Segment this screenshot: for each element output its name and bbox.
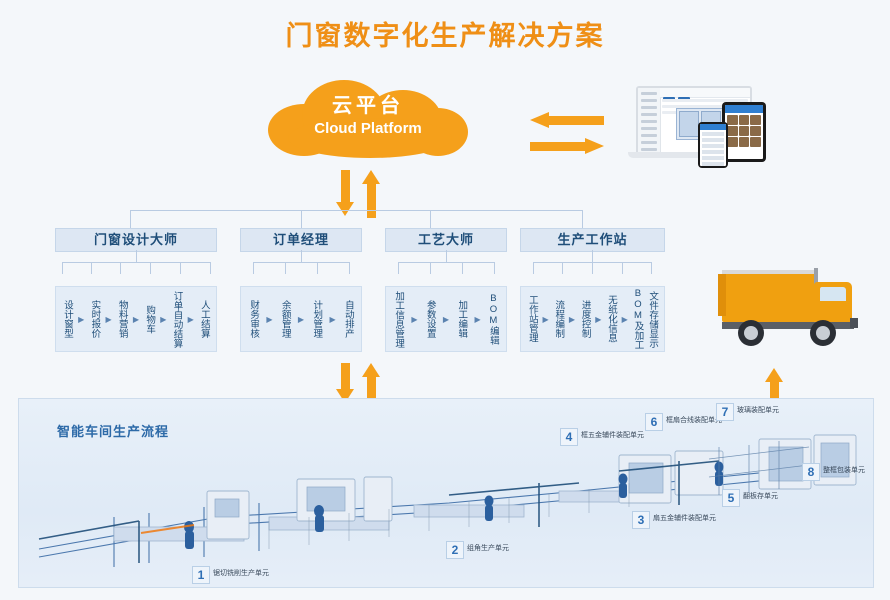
page-title: 门窗数字化生产解决方案	[0, 14, 890, 53]
module-item[interactable]: 计划管理	[311, 300, 322, 338]
flow-arrow-icon: ▶	[411, 315, 417, 324]
unit-label: 锯切铣削生产单元	[213, 569, 269, 579]
module-item[interactable]: 参数设置	[425, 300, 436, 338]
module-item[interactable]: 余额管理	[280, 300, 291, 338]
module-item[interactable]: 无纸化信息	[606, 295, 617, 343]
tree-branch	[430, 210, 431, 228]
laptop-toolbar	[660, 88, 750, 98]
module-title: 门窗设计大师	[55, 228, 217, 252]
flow-arrow-icon: ▶	[595, 315, 601, 324]
cloud-device-sync-arrows	[530, 112, 622, 156]
module-item[interactable]: 设计窗型	[62, 300, 73, 338]
unit-badge[interactable]: 2	[446, 541, 464, 559]
phone-mockup	[698, 122, 728, 168]
module-card-0[interactable]: 门窗设计大师 设计窗型 ▶ 实时报价 ▶ 物料营销 ▶ 购物车 ▶ 订单自动结算…	[55, 228, 217, 350]
module-items: 工作站管理 ▶ 流程编制 ▶ 进度控制 ▶ 无纸化信息 ▶ BOM及加工 文件存…	[520, 286, 665, 352]
flow-arrow-icon: ▶	[330, 315, 336, 324]
cloud-label-group: 云平台 Cloud Platform	[268, 94, 468, 139]
unit-label: 玻璃装配单元	[737, 406, 779, 416]
tree-branch	[130, 210, 131, 228]
unit-badge[interactable]: 4	[560, 428, 578, 446]
unit-badge[interactable]: 7	[716, 403, 734, 421]
cloud-label-en: Cloud Platform	[268, 119, 468, 139]
module-item[interactable]: 流程编制	[553, 300, 564, 338]
flow-arrow-icon: ▶	[106, 315, 112, 324]
module-title: 订单经理	[240, 228, 362, 252]
module-item[interactable]: 财务审核	[248, 300, 259, 338]
flow-arrow-icon: ▶	[78, 315, 84, 324]
module-item[interactable]: 自动排产	[343, 300, 354, 338]
unit-label: 扇五金辅件装配单元	[653, 514, 716, 524]
unit-badge[interactable]: 6	[645, 413, 663, 431]
cloud-platform-node: 云平台 Cloud Platform	[268, 78, 468, 160]
module-item[interactable]: 订单自动结算	[172, 291, 183, 348]
cloud-label-cn: 云平台	[268, 94, 468, 119]
flow-arrow-icon: ▶	[133, 315, 139, 324]
module-item[interactable]: 物料营销	[117, 300, 128, 338]
module-item[interactable]: 加工信息管理	[393, 291, 404, 348]
tree-trunk-horizontal	[130, 210, 582, 211]
unit-badge[interactable]: 1	[192, 566, 210, 584]
delivery-truck-illustration	[714, 262, 874, 362]
flow-arrow-icon: ▶	[266, 315, 272, 324]
module-items: 加工信息管理 ▶ 参数设置 ▶ 加工编辑 ▶ BOM编辑	[385, 286, 507, 352]
flow-arrow-icon: ▶	[298, 315, 304, 324]
tablet-mockup	[722, 102, 766, 162]
module-item[interactable]: 加工编辑	[456, 300, 467, 338]
module-item[interactable]: BOM编辑	[488, 293, 499, 345]
module-card-2[interactable]: 工艺大师 加工信息管理 ▶ 参数设置 ▶ 加工编辑 ▶ BOM编辑	[385, 228, 507, 350]
arrow-left-icon	[530, 112, 605, 129]
module-card-1[interactable]: 订单经理 财务审核 ▶ 余额管理 ▶ 计划管理 ▶ 自动排产	[240, 228, 362, 350]
module-item[interactable]: 进度控制	[580, 300, 591, 338]
unit-label: 组角生产单元	[467, 544, 509, 554]
module-item[interactable]: BOM及加工	[632, 288, 643, 350]
phone-appbar	[700, 124, 726, 130]
tree-branch	[582, 210, 583, 228]
tree-branch	[301, 210, 302, 228]
flow-arrow-icon: ▶	[475, 315, 481, 324]
solution-diagram: 门窗数字化生产解决方案 云平台 Cloud Platform	[0, 0, 890, 600]
module-item[interactable]: 购物车	[144, 305, 155, 334]
flow-arrow-icon: ▶	[160, 315, 166, 324]
module-items: 财务审核 ▶ 余额管理 ▶ 计划管理 ▶ 自动排产	[240, 286, 362, 352]
phone-list	[700, 132, 726, 166]
flow-arrow-icon: ▶	[569, 315, 575, 324]
arrow-right-icon	[530, 138, 605, 155]
module-item[interactable]: 实时报价	[89, 300, 100, 338]
unit-badge[interactable]: 3	[632, 511, 650, 529]
flow-arrow-icon: ▶	[443, 315, 449, 324]
module-item[interactable]: 工作站管理	[527, 295, 538, 343]
module-item[interactable]: 文件存储显示	[647, 291, 658, 348]
flow-arrow-icon: ▶	[622, 315, 628, 324]
module-items: 设计窗型 ▶ 实时报价 ▶ 物料营销 ▶ 购物车 ▶ 订单自动结算 ▶ 人工结算	[55, 286, 217, 352]
module-title: 生产工作站	[520, 228, 665, 252]
unit-label: 翻板存单元	[743, 492, 778, 502]
unit-badge[interactable]: 5	[722, 489, 740, 507]
unit-label: 框五金辅件装配单元	[581, 431, 644, 441]
flow-arrow-icon: ▶	[188, 315, 194, 324]
unit-label: 整框包装单元	[823, 466, 865, 476]
laptop-sidebar	[638, 88, 661, 154]
module-card-3[interactable]: 生产工作站 工作站管理 ▶ 流程编制 ▶ 进度控制 ▶ 无纸化信息 ▶ BOM及…	[520, 228, 665, 350]
module-title: 工艺大师	[385, 228, 507, 252]
tablet-appbar	[725, 105, 763, 113]
module-item[interactable]: 人工结算	[199, 300, 210, 338]
tablet-product-grid	[725, 113, 763, 149]
unit-badge[interactable]: 8	[802, 463, 820, 481]
unit-label: 框扇合线装配单元	[666, 416, 722, 426]
client-devices-group	[626, 86, 776, 168]
flow-arrow-icon: ▶	[542, 315, 548, 324]
